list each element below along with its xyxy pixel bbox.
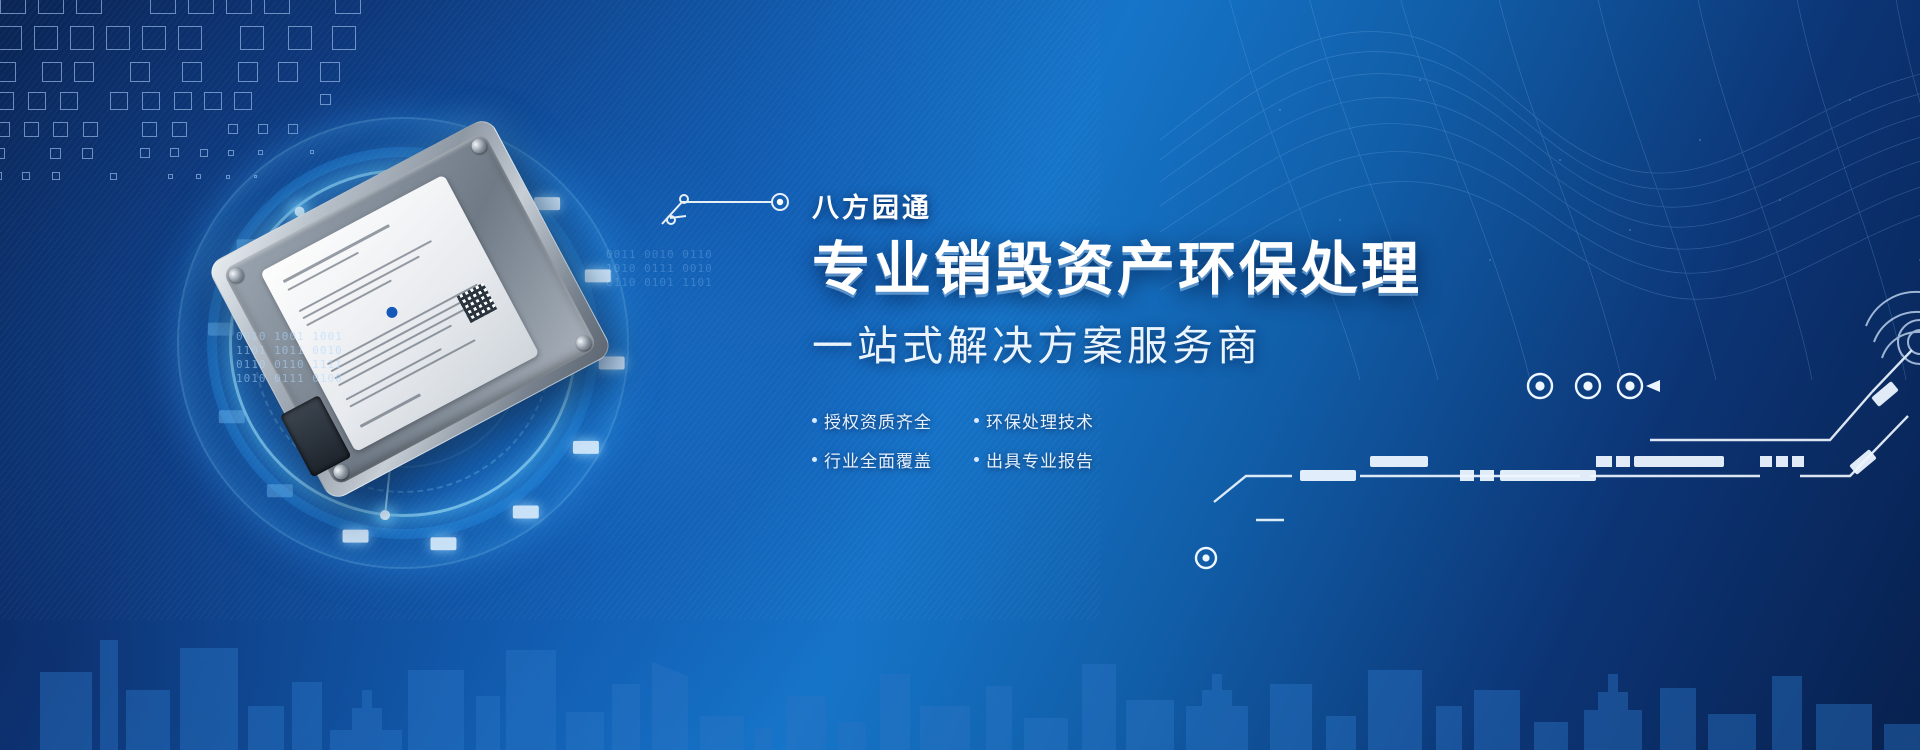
feature-item-3: 行业全面覆盖 [812,447,952,472]
brand-name: 八方园通 [812,186,1572,225]
bullet-dot-icon [974,457,979,462]
binary-code-text-left: 0010 1001 1001 1101 1011 0010 0110 0110 … [236,330,343,386]
page-subtitle: 一站式解决方案服务商 [812,312,1572,372]
feature-item-1: 授权资质齐全 [812,408,952,433]
bullet-dot-icon [812,418,817,423]
binary-code-text-right: 0011 0010 0110 1010 0111 0010 0110 0101 … [606,248,713,290]
feature-label: 授权资质齐全 [824,408,932,433]
feature-label: 出具专业报告 [986,447,1094,472]
bullet-dot-icon [974,418,979,423]
page-title: 专业销毁资产环保处理 [812,239,1572,302]
feature-label: 环保处理技术 [986,408,1094,433]
feature-item-2: 环保处理技术 [974,408,1114,433]
connector-line-decoration [660,178,810,226]
hero-banner: 0010 1001 1001 1101 1011 0010 0110 0110 … [0,0,1920,750]
feature-item-4: 出具专业报告 [974,447,1114,472]
feature-list: 授权资质齐全 环保处理技术 行业全面覆盖 出具专业报告 [812,408,1132,472]
hero-text-block: 八方园通 专业销毁资产环保处理 一站式解决方案服务商 授权资质齐全 环保处理技术… [812,186,1572,472]
feature-label: 行业全面覆盖 [824,447,932,472]
bullet-dot-icon [812,457,817,462]
city-skyline-silhouette [0,520,1920,750]
